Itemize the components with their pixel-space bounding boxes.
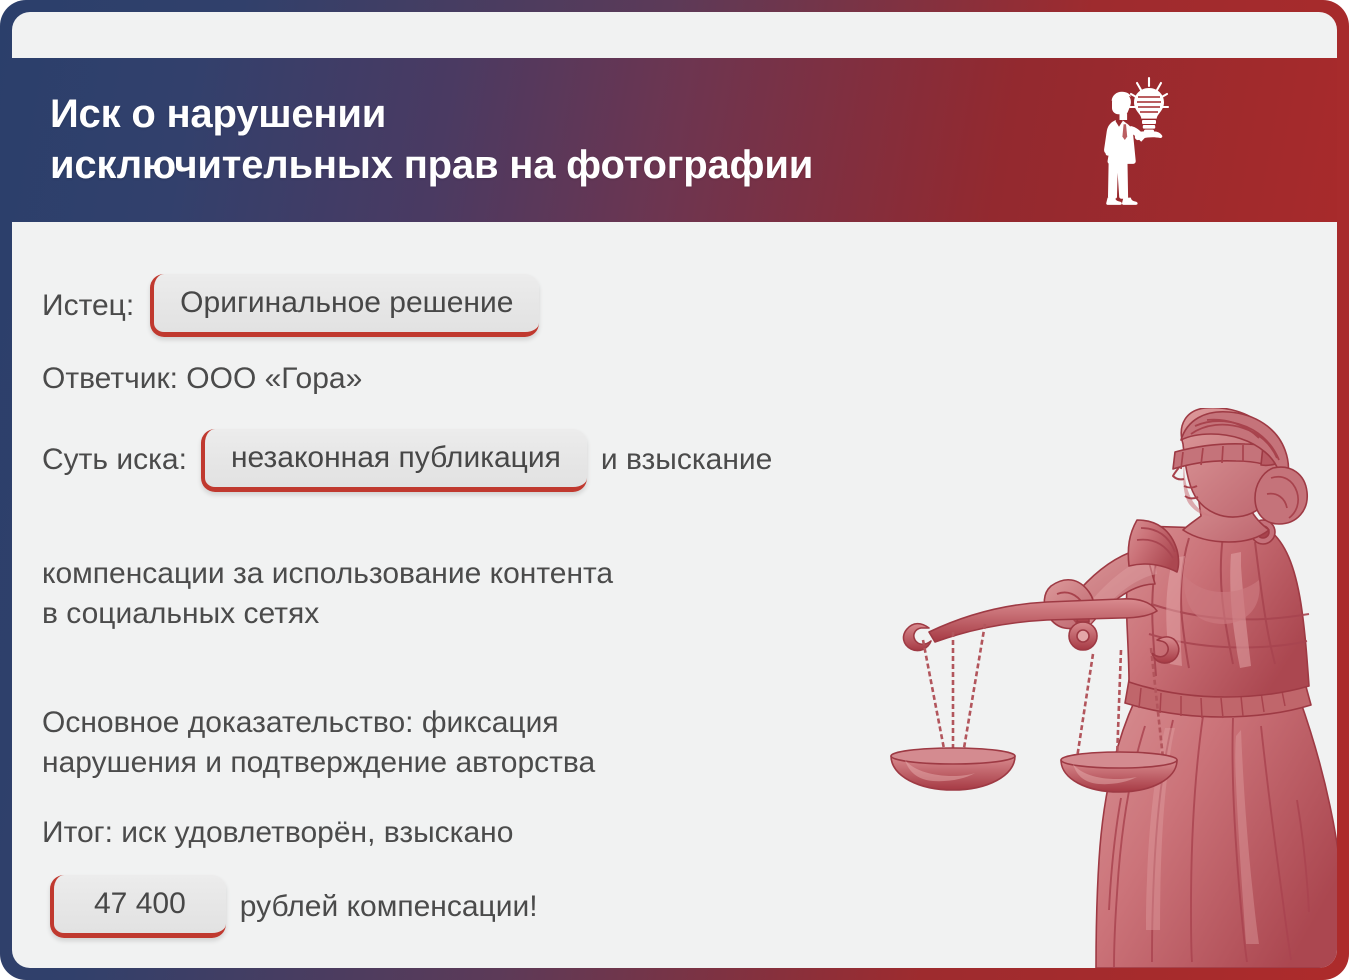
plaintiff-row: Истец: Оригинальное решение [42, 274, 942, 337]
card-body: Истец: Оригинальное решение Ответчик: ОО… [12, 222, 1337, 968]
result-intro-text: Итог: иск удовлетворён, взыскано [42, 816, 513, 849]
evidence-row: Основное доказательство: фиксация наруше… [42, 664, 942, 784]
claim-row: Суть иска: незаконная публикация и взыск… [42, 429, 942, 492]
claim-label: Суть иска: [42, 440, 187, 480]
evidence-text: Основное доказательство: фиксация наруше… [42, 706, 595, 779]
compensation-suffix-text: рублей компенсации! [240, 890, 538, 924]
card-sheet: Иск о нарушении исключительных прав на ф… [12, 12, 1337, 968]
card-header: Иск о нарушении исключительных прав на ф… [12, 58, 1337, 222]
claim-continuation-row: компенсации за использование контента в … [42, 514, 942, 634]
claim-continuation-text: компенсации за использование контента в … [42, 557, 613, 630]
defendant-text: Ответчик: ООО «Гора» [42, 362, 362, 395]
infographic-card: Иск о нарушении исключительных прав на ф… [0, 0, 1349, 980]
claim-chip[interactable]: незаконная публикация [201, 429, 587, 492]
plaintiff-label: Истец: [42, 286, 134, 326]
compensation-amount-chip[interactable]: 47 400 [50, 875, 226, 938]
result-intro-row: Итог: иск удовлетворён, взыскано [42, 813, 942, 853]
page-title: Иск о нарушении исключительных прав на ф… [50, 89, 813, 191]
plaintiff-chip[interactable]: Оригинальное решение [150, 274, 539, 337]
result-amount-row: 47 400 рублей компенсации! [42, 875, 1337, 938]
claim-tail: и взыскание [601, 440, 773, 480]
defendant-row: Ответчик: ООО «Гора» [42, 359, 942, 399]
businessman-with-lightbulb-icon [1085, 72, 1181, 208]
